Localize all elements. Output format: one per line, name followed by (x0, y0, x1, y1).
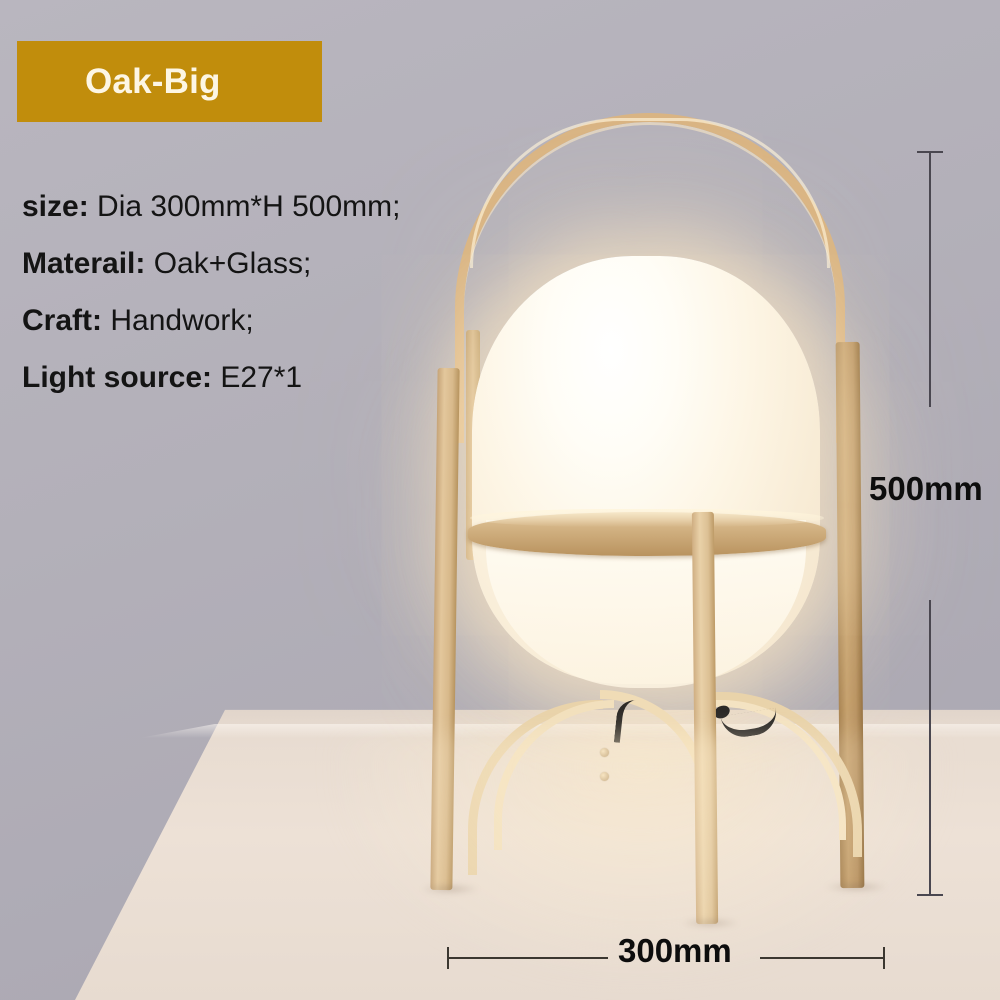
width-dimension-line-left (448, 957, 608, 959)
spec-label-craft: Craft: (22, 304, 102, 337)
product-photo-scene: Oak-Big size: Dia 300mm*H 500mm; Materai… (0, 0, 1000, 1000)
spec-value-light-source: E27*1 (220, 361, 302, 394)
wooden-band-highlight (470, 509, 824, 527)
spec-row-craft: Craft: Handwork; (22, 292, 542, 349)
height-dimension-line-upper (929, 152, 931, 407)
spec-row-size: size: Dia 300mm*H 500mm; (22, 178, 542, 235)
spec-label-light-source: Light source: (22, 361, 212, 394)
spec-value-material: Oak+Glass; (154, 247, 312, 280)
spec-label-material: Materail: (22, 247, 145, 280)
specification-list: size: Dia 300mm*H 500mm; Materail: Oak+G… (22, 178, 542, 406)
height-dimension-cap-bottom (917, 894, 943, 896)
height-dimension-line-lower (929, 600, 931, 896)
width-dimension-cap-right (883, 947, 885, 969)
spec-value-size: Dia 300mm*H 500mm; (97, 190, 400, 223)
spec-row-material: Materail: Oak+Glass; (22, 235, 542, 292)
spec-value-craft: Handwork; (110, 304, 253, 337)
spec-row-light-source: Light source: E27*1 (22, 349, 542, 406)
width-dimension-line-right (760, 957, 884, 959)
variant-badge-label: Oak-Big (85, 62, 221, 102)
variant-badge: Oak-Big (17, 41, 322, 122)
height-dimension-label: 500mm (869, 470, 983, 508)
width-dimension-label: 300mm (618, 932, 732, 970)
spec-label-size: size: (22, 190, 89, 223)
